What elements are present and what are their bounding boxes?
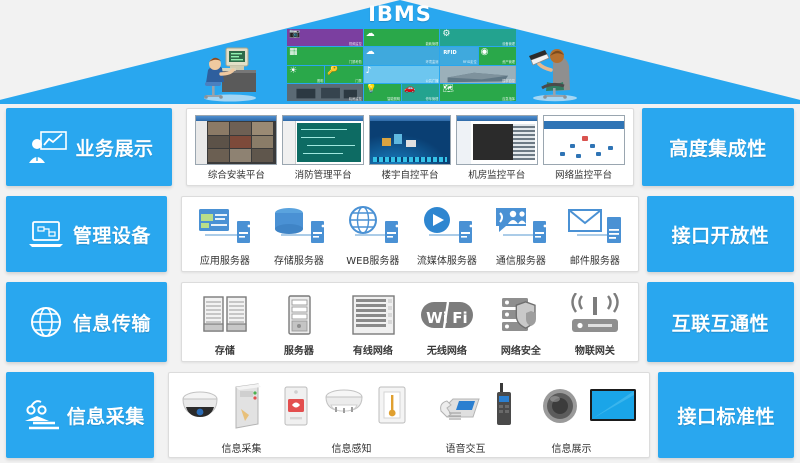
play-button-server-icon bbox=[417, 205, 477, 249]
wifi-icon: Wi Fi bbox=[418, 293, 476, 339]
server-item[interactable]: 通信服务器 bbox=[484, 201, 558, 267]
attribute-card-high-integration[interactable]: 高度集成性 bbox=[642, 108, 794, 186]
attribute-label: 互联互通性 bbox=[672, 309, 770, 336]
server-item[interactable]: WEB服务器 bbox=[336, 201, 410, 267]
attribute-label: 高度集成性 bbox=[669, 134, 767, 161]
roof-tile-parking[interactable]: 🚗 停车管理 bbox=[402, 84, 439, 101]
sidebar-item-information-transmission[interactable]: 信息传输 bbox=[6, 282, 167, 362]
thermostat-panel-icon[interactable] bbox=[371, 381, 413, 431]
sidebar-label-business-display: 业务展示 bbox=[75, 134, 153, 161]
device-caption: 语音交互 bbox=[445, 440, 485, 455]
surveillance-pyramid-icon bbox=[20, 397, 60, 433]
bulb-icon: 💡 bbox=[366, 85, 377, 94]
layer-information-transmission: 信息传输 存储 bbox=[0, 282, 800, 362]
roof-tile-smart-lighting[interactable]: 💡 智能照明 bbox=[364, 84, 401, 101]
car-icon: 🚗 bbox=[404, 85, 415, 94]
attribute-card-open-interface[interactable]: 接口开放性 bbox=[647, 196, 794, 272]
platform-item[interactable]: 综合安装平台 bbox=[193, 113, 279, 181]
roof-tile-lighting[interactable]: ☀ 照明 bbox=[287, 66, 324, 83]
network-item[interactable]: 有线网络 bbox=[336, 287, 410, 357]
network-caption: 有线网络 bbox=[353, 342, 393, 357]
network-item[interactable]: 物联网关 bbox=[558, 287, 632, 357]
network-item[interactable]: Wi Fi 无线网络 bbox=[410, 287, 484, 357]
platform-caption: 消防管理平台 bbox=[295, 167, 352, 181]
network-caption: 物联网关 bbox=[575, 342, 615, 357]
server-shield-icon bbox=[492, 293, 550, 339]
roof-tile-energy[interactable]: ☁ 能耗管理 bbox=[364, 29, 440, 46]
device-strip bbox=[179, 379, 639, 431]
rfid-icon: RFID bbox=[443, 51, 456, 56]
server-caption: 通信服务器 bbox=[496, 252, 546, 267]
server-item[interactable]: 流媒体服务器 bbox=[410, 201, 484, 267]
roof-section: IBMS bbox=[0, 0, 800, 104]
dome-camera-icon[interactable] bbox=[179, 381, 221, 431]
platform-caption: 综合安装平台 bbox=[208, 167, 265, 181]
layer-business-display: 业务展示 综合安装平台 bbox=[0, 108, 800, 186]
roof-tile-door[interactable]: 🔑 门禁 bbox=[325, 66, 362, 83]
lamp-icon: ☀ bbox=[289, 67, 297, 76]
person-with-laptop-on-chair-icon bbox=[527, 44, 583, 102]
speaker-icon[interactable] bbox=[539, 381, 581, 431]
network-caption: 存储 bbox=[215, 342, 235, 357]
platform-caption: 机房监控平台 bbox=[468, 167, 525, 181]
network-item[interactable]: 存储 bbox=[188, 287, 262, 357]
platform-item[interactable]: 楼宇自控平台 bbox=[367, 113, 453, 181]
network-switch-icon bbox=[344, 293, 402, 339]
server-item[interactable]: 邮件服务器 bbox=[558, 201, 632, 267]
key-icon: 🔑 bbox=[327, 67, 338, 76]
storage-array-icon bbox=[196, 293, 254, 339]
network-caption: 无线网络 bbox=[427, 342, 467, 357]
roof-tile-rfid[interactable]: RFID RFID定位 bbox=[440, 47, 477, 64]
layer-information-collection: 信息采集 bbox=[0, 372, 800, 458]
information-transmission-panel: 存储 服务器 bbox=[181, 282, 639, 362]
roof-tile-grid: 📷 视频监控 ☁ 能耗管理 ⚙ 设备管理 ▦ 门禁考勤 ☁ 环境监测 RFID bbox=[287, 29, 516, 101]
attribute-card-interconnection[interactable]: 互联互通性 bbox=[647, 282, 794, 362]
asset-icon: ◉ bbox=[481, 48, 489, 57]
platform-caption: 网络监控平台 bbox=[555, 167, 612, 181]
database-cylinder-server-icon bbox=[269, 205, 329, 249]
globe-server-icon bbox=[343, 205, 403, 249]
server-caption: 应用服务器 bbox=[200, 252, 250, 267]
cctv-camera-icon: 📷 bbox=[289, 30, 300, 39]
server-tower-icon bbox=[270, 293, 328, 339]
attribute-label: 接口开放性 bbox=[672, 221, 770, 248]
roof-tile-access-control[interactable]: ▦ 门禁考勤 bbox=[287, 47, 363, 64]
map-icon: 🗺 bbox=[442, 85, 453, 94]
network-topology-screenshot bbox=[543, 115, 625, 165]
device-caption-row: 信息采集 信息感知 语音交互 信息展示 bbox=[169, 440, 649, 454]
layer-management-equipment: 管理设备 bbox=[0, 196, 800, 272]
platform-item[interactable]: 消防管理平台 bbox=[280, 113, 366, 181]
network-item[interactable]: 服务器 bbox=[262, 287, 336, 357]
sidebar-item-business-display[interactable]: 业务展示 bbox=[6, 108, 172, 186]
card-reader-icon[interactable] bbox=[227, 381, 269, 431]
person-at-desktop-computer-icon bbox=[196, 44, 258, 102]
roof-tile-server-room[interactable]: 机房监控 bbox=[287, 84, 363, 101]
server-caption: 流媒体服务器 bbox=[417, 252, 477, 267]
device-caption: 信息采集 bbox=[221, 440, 261, 455]
fire-plan-screenshot bbox=[282, 115, 364, 165]
platform-item[interactable]: 机房监控平台 bbox=[454, 113, 540, 181]
roof-tile-broadcast[interactable]: ♪ 公共广播 bbox=[364, 66, 440, 83]
cloud-fill-icon: ☁ bbox=[366, 48, 375, 57]
display-screen-icon[interactable] bbox=[587, 381, 639, 431]
roof-tile-asset[interactable]: ◉ 资产管理 bbox=[479, 47, 516, 64]
sidebar-item-management-equipment[interactable]: 管理设备 bbox=[6, 196, 167, 272]
platform-caption: 楼宇自控平台 bbox=[381, 167, 438, 181]
grid-icon: ▦ bbox=[289, 48, 298, 57]
person-chart-icon bbox=[28, 129, 68, 165]
sidebar-item-information-collection[interactable]: 信息采集 bbox=[6, 372, 154, 458]
attribute-label: 接口标准性 bbox=[677, 402, 775, 429]
roof-tile-video-surveillance[interactable]: 📷 视频监控 bbox=[287, 29, 363, 46]
server-room-screenshot bbox=[456, 115, 538, 165]
cctv-wall-screenshot bbox=[195, 115, 277, 165]
sidebar-label-information-transmission: 信息传输 bbox=[73, 309, 151, 336]
sidebar-label-management-equipment: 管理设备 bbox=[73, 221, 151, 248]
roof-tile-equipment[interactable]: ⚙ 设备管理 bbox=[440, 29, 516, 46]
emergency-call-button-icon[interactable] bbox=[275, 381, 317, 431]
svg-text:Fi: Fi bbox=[452, 309, 467, 327]
envelope-server-icon bbox=[565, 205, 625, 249]
globe-grid-icon bbox=[26, 304, 66, 340]
server-caption: WEB服务器 bbox=[346, 252, 399, 267]
ibms-architecture-diagram: IBMS bbox=[0, 0, 800, 463]
business-display-panel: 综合安装平台 消防管理平台 bbox=[186, 108, 634, 186]
page-title: IBMS bbox=[0, 2, 800, 26]
building-automation-screenshot bbox=[369, 115, 451, 165]
server-caption: 存储服务器 bbox=[274, 252, 324, 267]
network-caption: 服务器 bbox=[284, 342, 314, 357]
server-item[interactable]: 存储服务器 bbox=[262, 201, 336, 267]
sidebar-label-information-collection: 信息采集 bbox=[67, 402, 145, 429]
server-caption: 邮件服务器 bbox=[570, 252, 620, 267]
gear-icon: ⚙ bbox=[442, 30, 450, 39]
roof-tile-emergency[interactable]: 🗺 应急指挥 bbox=[440, 84, 516, 101]
attribute-card-standard-interface[interactable]: 接口标准性 bbox=[658, 372, 794, 458]
app-window-server-icon bbox=[195, 205, 255, 249]
device-caption: 信息展示 bbox=[551, 440, 591, 455]
laptop-network-icon bbox=[26, 216, 66, 252]
roof-tile-environment[interactable]: ☁ 环境监测 bbox=[364, 47, 440, 64]
music-note-icon: ♪ bbox=[366, 67, 372, 76]
walkie-talkie-icon[interactable] bbox=[491, 381, 517, 431]
desk-telephone-icon[interactable] bbox=[435, 381, 485, 431]
smoke-detector-icon[interactable] bbox=[323, 381, 365, 431]
network-item[interactable]: 网络安全 bbox=[484, 287, 558, 357]
network-caption: 网络安全 bbox=[501, 342, 541, 357]
device-caption: 信息感知 bbox=[331, 440, 371, 455]
communication-people-server-icon bbox=[491, 205, 551, 249]
roof-tile-building[interactable]: 楼宇自控 bbox=[440, 66, 516, 83]
wireless-router-icon bbox=[566, 293, 624, 339]
information-collection-panel: 信息采集 信息感知 语音交互 信息展示 bbox=[168, 372, 650, 458]
server-item[interactable]: 应用服务器 bbox=[188, 201, 262, 267]
cloud-icon: ☁ bbox=[366, 30, 375, 39]
management-equipment-panel: 应用服务器 存储服务器 bbox=[181, 196, 639, 272]
platform-item[interactable]: 网络监控平台 bbox=[541, 113, 627, 181]
